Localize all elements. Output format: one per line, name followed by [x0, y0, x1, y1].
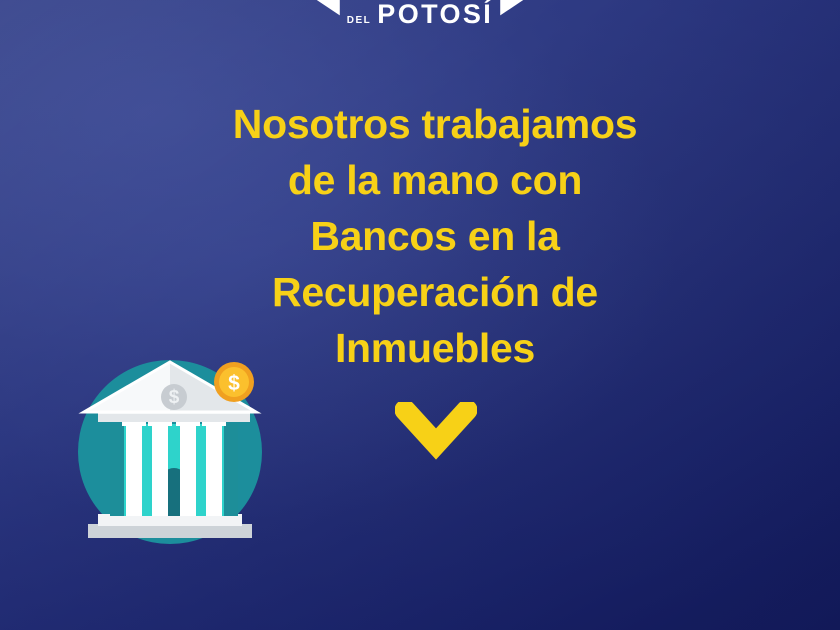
bank-column-4: [206, 422, 222, 516]
headline-line-1: Nosotros trabajamos: [170, 96, 700, 152]
headline-line-3: Bancos en la: [170, 208, 700, 264]
bank-building-icon: $ $: [76, 356, 272, 548]
bank-wall-shade-left: [110, 424, 124, 516]
headline-line-2: de la mano con: [170, 152, 700, 208]
promo-slide: DEL POTOSÍ Nosotros trabajamos de la man…: [0, 0, 840, 630]
headline: Nosotros trabajamos de la mano con Banco…: [170, 96, 700, 376]
bank-column-2: [152, 422, 168, 516]
chevron-down-icon: [395, 402, 477, 466]
bank-pediment-coin-symbol: $: [169, 387, 180, 408]
dollar-coin-symbol: $: [228, 372, 240, 395]
bank-wall-shade-right: [224, 424, 238, 516]
headline-line-4: Recuperación de: [170, 264, 700, 320]
bank-column-1: [126, 422, 142, 516]
bank-base-lower: [88, 524, 252, 538]
bank-column-3: [180, 422, 196, 516]
